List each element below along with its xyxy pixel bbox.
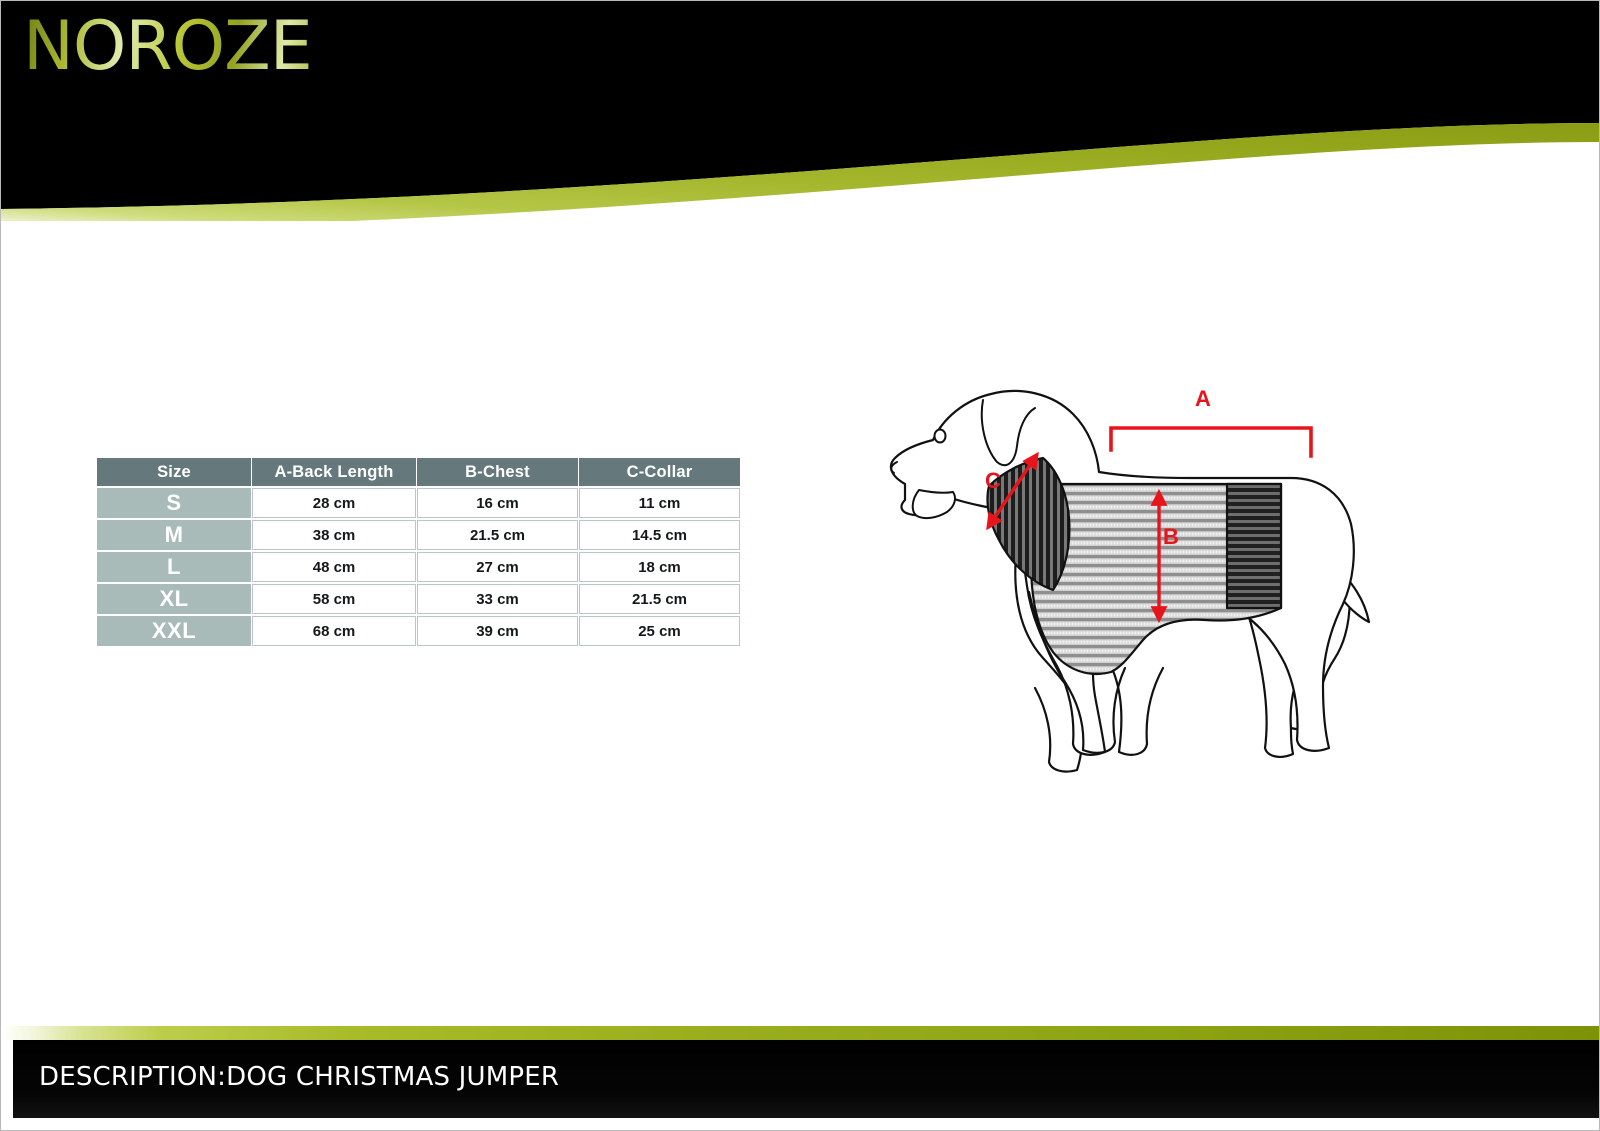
measurement-diagram: A B C: [861, 366, 1381, 776]
table-row: XL 58 cm 33 cm 21.5 cm: [97, 584, 740, 614]
cell-back-length: 48 cm: [252, 552, 416, 582]
cell-back-length: 38 cm: [252, 520, 416, 550]
table-row: S 28 cm 16 cm 11 cm: [97, 488, 740, 518]
table-row: XXL 68 cm 39 cm 25 cm: [97, 616, 740, 646]
dog-illustration-svg: A B C: [861, 366, 1381, 776]
column-header-back-length: A-Back Length: [252, 458, 416, 486]
page-footer: DESCRIPTION:DOG CHRISTMAS JUMPER: [1, 1012, 1600, 1130]
cell-back-length: 28 cm: [252, 488, 416, 518]
cell-collar: 18 cm: [579, 552, 740, 582]
column-header-collar: C-Collar: [579, 458, 740, 486]
cell-collar: 11 cm: [579, 488, 740, 518]
cell-chest: 39 cm: [417, 616, 578, 646]
column-header-size: Size: [97, 458, 251, 486]
product-description: DESCRIPTION:DOG CHRISTMAS JUMPER: [39, 1062, 559, 1092]
footer-black-bar: DESCRIPTION:DOG CHRISTMAS JUMPER: [13, 1040, 1600, 1118]
page-header: NOROZE: [1, 1, 1600, 221]
table-row: L 48 cm 27 cm 18 cm: [97, 552, 740, 582]
cell-chest: 33 cm: [417, 584, 578, 614]
cell-chest: 27 cm: [417, 552, 578, 582]
measure-label-b: B: [1163, 524, 1179, 549]
cell-chest: 21.5 cm: [417, 520, 578, 550]
cell-size: M: [97, 520, 251, 550]
footer-accent-band: [1, 1026, 1600, 1040]
jumper-hem: [1227, 484, 1281, 608]
tongue: [913, 490, 955, 518]
measure-label-c: C: [985, 468, 1001, 493]
measure-label-a: A: [1195, 386, 1211, 411]
table-header-row: Size A-Back Length B-Chest C-Collar: [97, 458, 740, 486]
cell-back-length: 68 cm: [252, 616, 416, 646]
size-chart-table: Size A-Back Length B-Chest C-Collar S 28…: [96, 456, 741, 648]
column-header-chest: B-Chest: [417, 458, 578, 486]
cell-size: L: [97, 552, 251, 582]
cell-size: XXL: [97, 616, 251, 646]
measure-a-bracket: [1111, 428, 1311, 456]
table-row: M 38 cm 21.5 cm 14.5 cm: [97, 520, 740, 550]
header-graphic: [1, 1, 1600, 221]
cell-size: XL: [97, 584, 251, 614]
eye: [935, 430, 946, 443]
product-size-chart-page: NOROZE Size A-Back Length B-Chest C-Coll…: [0, 0, 1600, 1131]
cell-collar: 25 cm: [579, 616, 740, 646]
cell-size: S: [97, 488, 251, 518]
cell-collar: 14.5 cm: [579, 520, 740, 550]
size-chart-table-head: Size A-Back Length B-Chest C-Collar: [97, 458, 740, 486]
cell-collar: 21.5 cm: [579, 584, 740, 614]
size-chart-table-body: S 28 cm 16 cm 11 cm M 38 cm 21.5 cm 14.5…: [97, 488, 740, 646]
cell-chest: 16 cm: [417, 488, 578, 518]
cell-back-length: 58 cm: [252, 584, 416, 614]
